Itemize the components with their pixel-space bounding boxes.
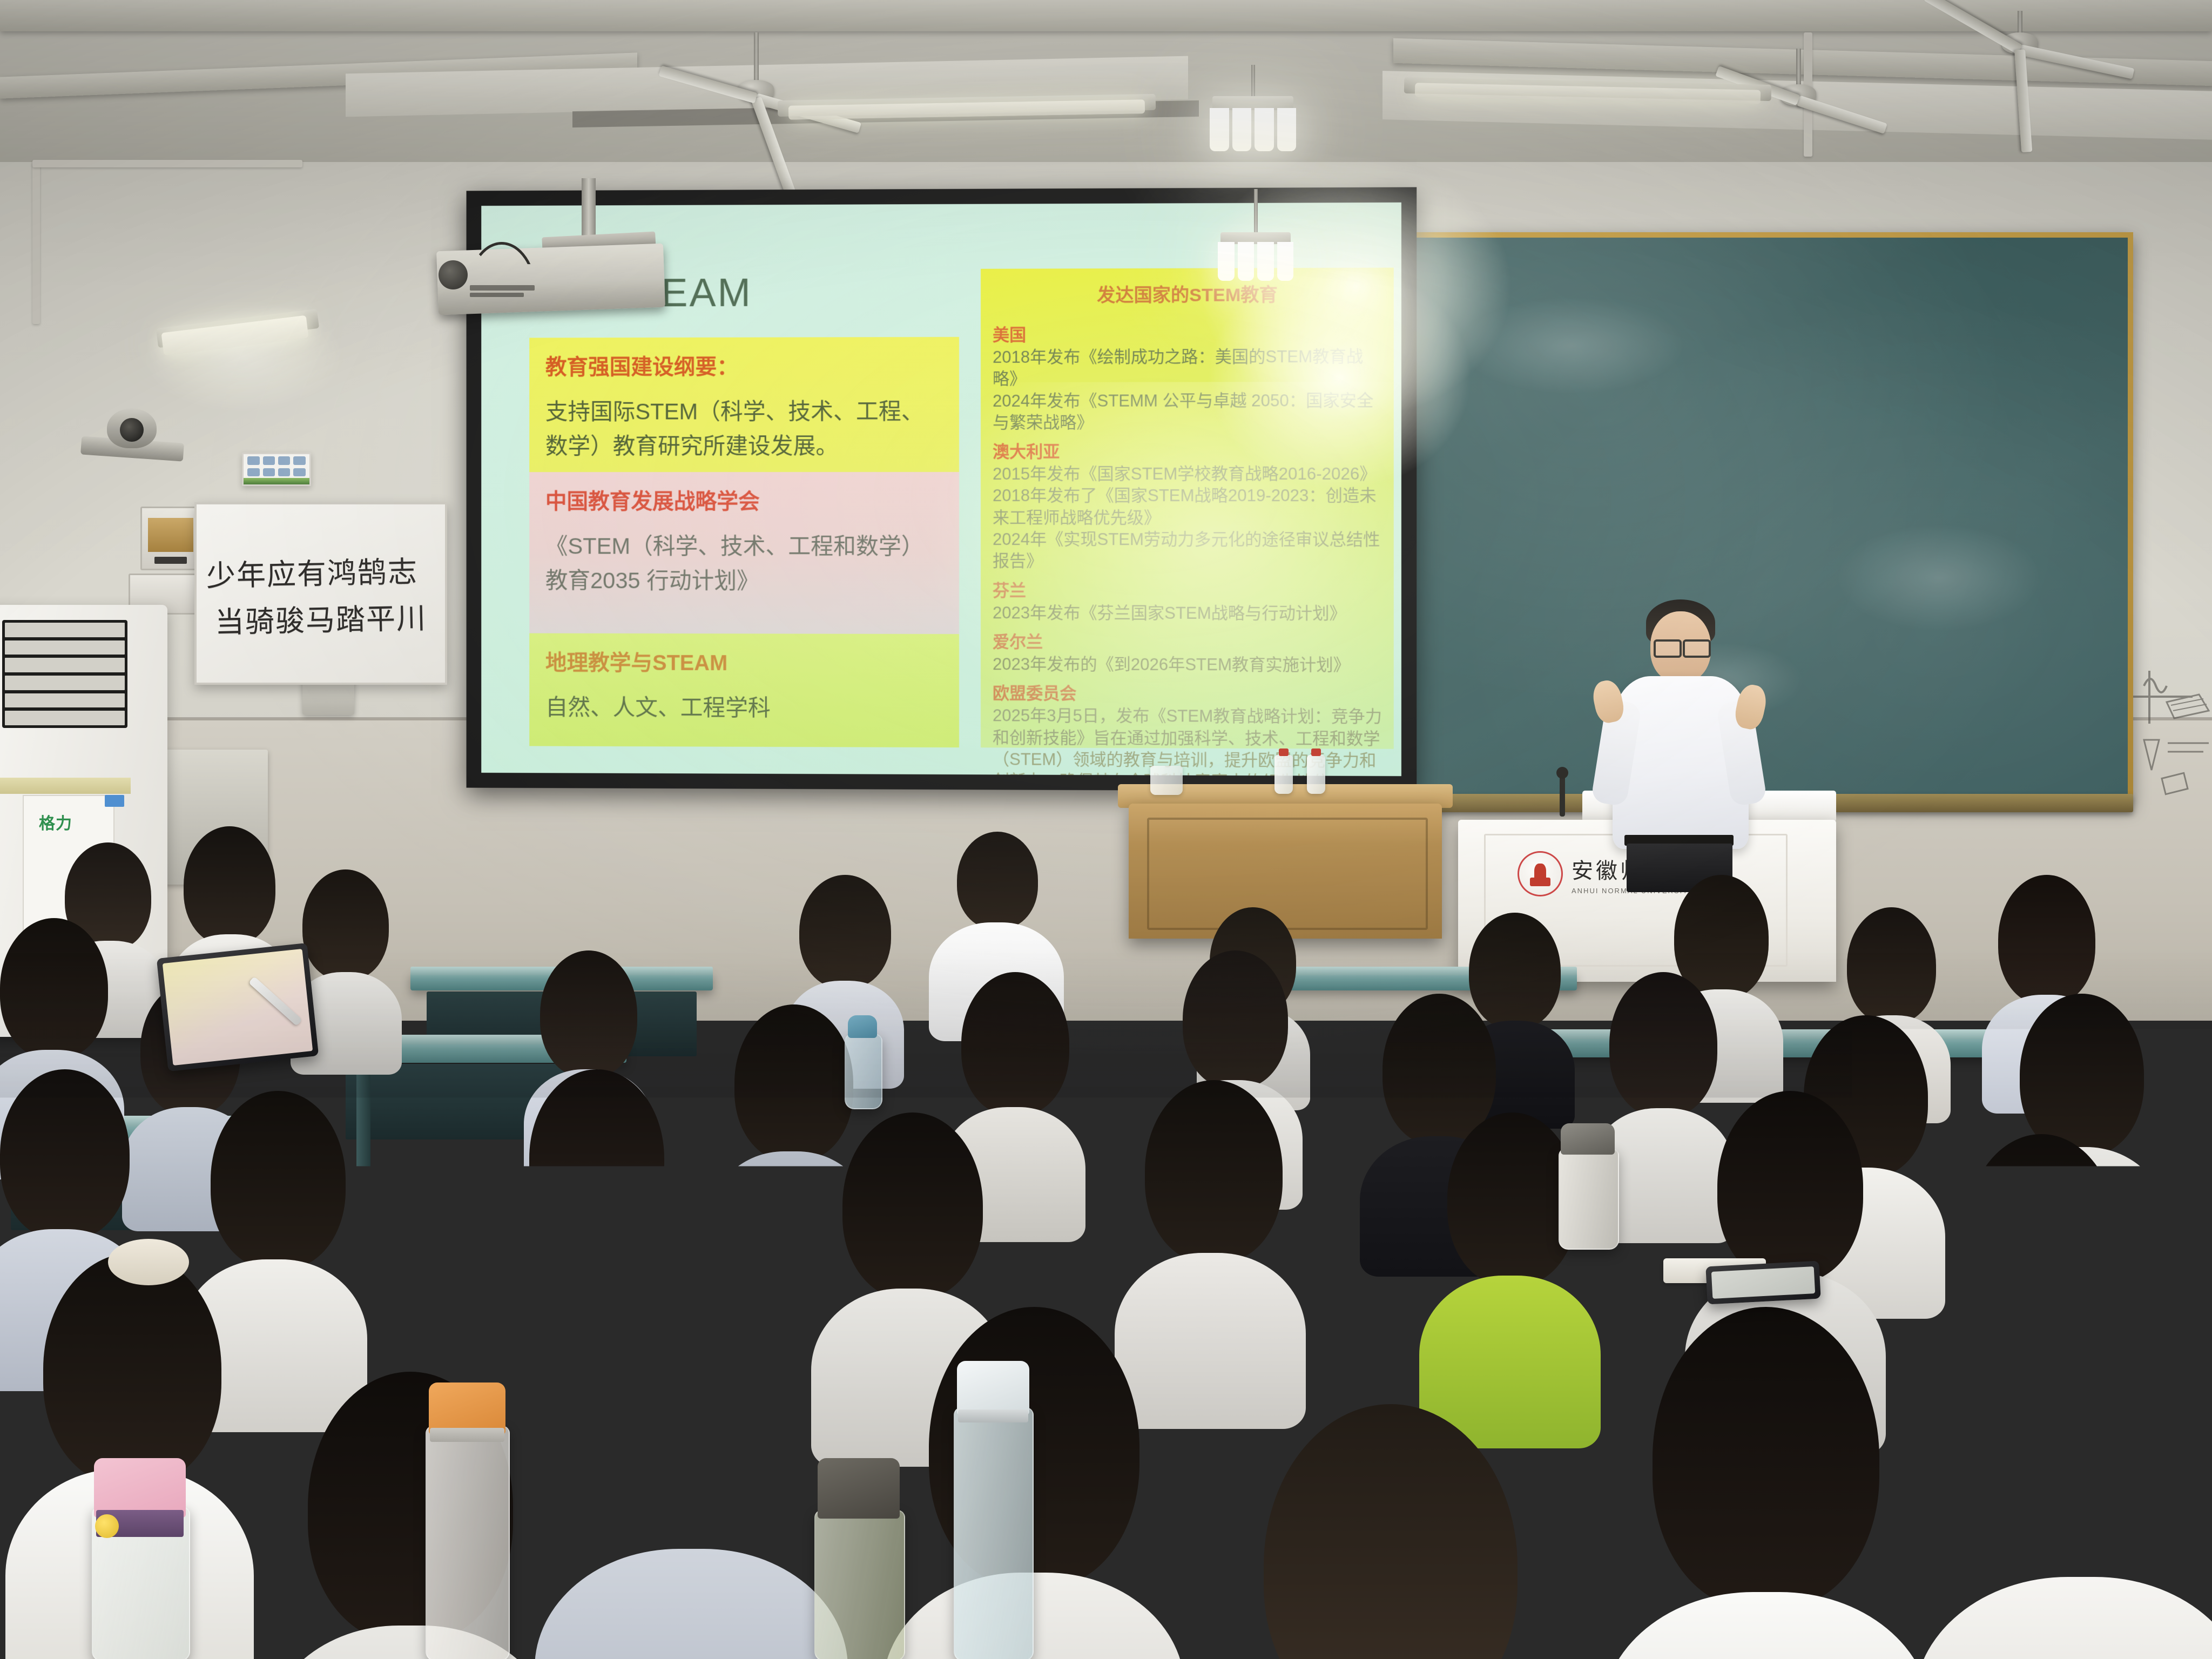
presenter-glasses-icon xyxy=(1654,639,1711,656)
block-body: 自然、人文、工程学科 xyxy=(545,690,943,726)
country-name: 美国 xyxy=(993,320,1382,346)
country-name: 爱尔兰 xyxy=(993,628,1382,653)
wall-conduit-vertical xyxy=(32,162,40,324)
student-tablet[interactable] xyxy=(157,943,319,1071)
ceiling-beam-front xyxy=(0,0,2212,31)
lectern-microphone xyxy=(1560,773,1565,817)
paper-handout xyxy=(562,1230,659,1256)
water-bottle-podium-left xyxy=(1274,755,1293,794)
country-entry-usa: 美国 2018年发布《绘制成功之路：美国的STEM教育战略》 2024年发布《S… xyxy=(993,320,1382,434)
water-bottle-pink[interactable] xyxy=(86,1458,194,1659)
water-bottle-white[interactable] xyxy=(950,1361,1036,1659)
water-bottle-glass-tea[interactable] xyxy=(810,1458,907,1659)
ptz-camera xyxy=(81,394,194,464)
ceiling-fan-right xyxy=(1923,11,2117,113)
slide-block-education-power: 教育强国建设纲要： 支持国际STEM（科学、技术、工程、数学）教育研究所建设发展… xyxy=(529,337,959,472)
wooden-podium xyxy=(1129,804,1442,939)
country-line: 2024年发布《STEMM 公平与卓越 2050：国家安全与繁荣战略》 xyxy=(993,390,1382,434)
country-entry-australia: 澳大利亚 2015年发布《国家STEM学校教育战略2016-2026》 2018… xyxy=(993,438,1382,573)
ac-brand-label: 格力 xyxy=(39,810,72,834)
tissue-pack[interactable] xyxy=(1491,1328,1550,1420)
university-seal-icon xyxy=(1518,851,1563,896)
pendant-light-lower xyxy=(1215,189,1296,329)
tablet-screen[interactable] xyxy=(163,949,313,1065)
block-body: 《STEM（科学、技术、工程和数学）教育2035 行动计划》 xyxy=(545,529,943,598)
country-line: 2024年《实现STEM劳动力多元化的途径审议总结性报告》 xyxy=(993,529,1382,572)
wall-conduit-horizontal xyxy=(32,160,302,167)
whiteboard: 少年应有鸿鹄志 当骑骏马踏平川 xyxy=(194,502,447,685)
projector-lens xyxy=(439,260,468,289)
block-body: 支持国际STEM（科学、技术、工程、数学）教育研究所建设发展。 xyxy=(545,394,943,463)
wall-poster-small xyxy=(242,453,311,486)
country-entry-finland: 芬兰 2023年发布《芬兰国家STEM战略与行动计划》 xyxy=(993,577,1382,625)
ceiling-projector xyxy=(502,178,729,308)
block-heading: 地理教学与STEAM xyxy=(545,645,943,677)
block-heading: 中国教育发展战略学会 xyxy=(545,484,943,515)
calligraphy-line-2: 当骑骏马踏平川 xyxy=(214,601,427,640)
country-name: 欧盟委员会 xyxy=(993,680,1382,705)
ceiling-fan-left xyxy=(664,32,848,135)
country-line: 2018年发布《绘制成功之路：美国的STEM教育战略》 xyxy=(993,346,1382,390)
wall-control-box xyxy=(140,507,201,570)
water-bottle-small-blue[interactable] xyxy=(842,1015,882,1107)
presenter-right-hand xyxy=(1732,682,1769,731)
slide-block-china-strategy-society: 中国教育发展战略学会 《STEM（科学、技术、工程和数学）教育2035 行动计划… xyxy=(529,472,959,634)
country-line: 2018年发布了《国家STEM战略2019-2023：创造未来工程师战略优先级》 xyxy=(993,485,1382,529)
calligraphy-line-1: 少年应有鸿鹄志 xyxy=(206,554,418,594)
wall-chalk-sketch xyxy=(2128,664,2212,805)
water-bottle-orange[interactable] xyxy=(421,1382,513,1659)
country-name: 芬兰 xyxy=(993,577,1382,602)
country-line: 2015年发布《国家STEM学校教育战略2016-2026》 xyxy=(993,463,1382,485)
country-line: 2023年发布《芬兰国家STEM战略与行动计划》 xyxy=(993,602,1382,625)
slide-panel-developed-countries: 发达国家的STEM教育 美国 2018年发布《绘制成功之路：美国的STEM教育战… xyxy=(981,268,1394,749)
country-line: 2023年发布的《到2026年STEM教育实施计划》 xyxy=(993,653,1382,676)
water-bottle-podium-right xyxy=(1307,755,1325,794)
presenter xyxy=(1577,599,1782,842)
desk-tablet-right[interactable] xyxy=(1705,1261,1820,1305)
slide-block-geography-steam: 地理教学与STEAM 自然、人文、工程学科 xyxy=(529,633,959,748)
microphone-head-icon xyxy=(1556,767,1568,779)
country-entry-ireland: 爱尔兰 2023年发布的《到2026年STEM教育实施计划》 xyxy=(993,628,1382,676)
lecture-hall-photo: STEAM 教育强国建设纲要： 支持国际STEM（科学、技术、工程、数学）教育研… xyxy=(0,0,2212,1659)
country-name: 澳大利亚 xyxy=(993,438,1382,463)
hair-scrunchie xyxy=(108,1239,189,1285)
podium-item-box xyxy=(1150,766,1183,795)
panel-title: 发达国家的STEM教育 xyxy=(993,280,1382,307)
block-heading: 教育强国建设纲要： xyxy=(545,349,943,381)
thermos-bottle[interactable] xyxy=(1555,1123,1620,1247)
